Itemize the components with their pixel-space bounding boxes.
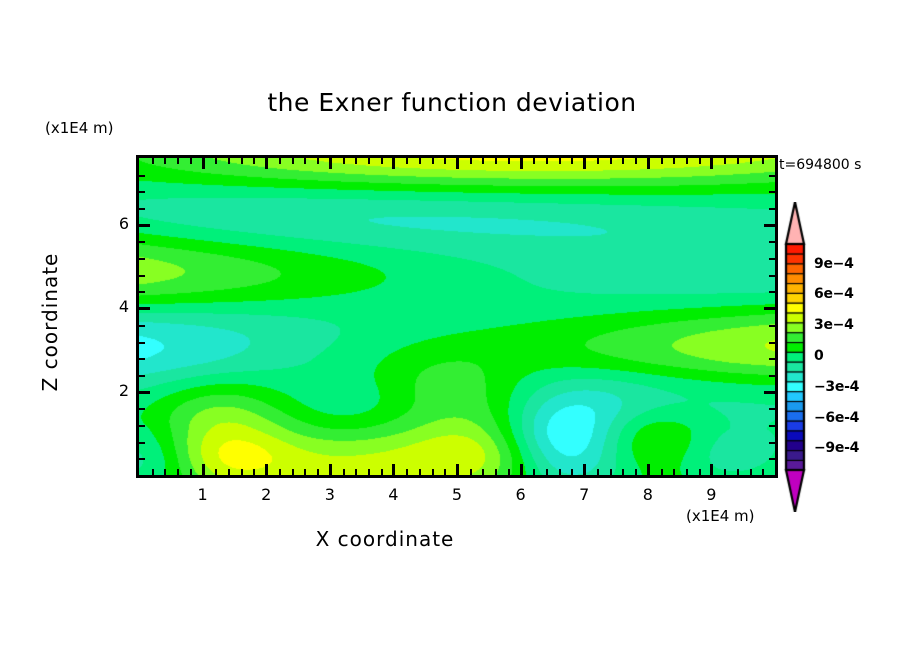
tick-mark <box>419 469 421 475</box>
tick-mark <box>597 158 599 164</box>
tick-mark <box>635 469 637 475</box>
tick-mark <box>292 469 294 475</box>
tick-mark <box>769 258 775 260</box>
tick-mark <box>355 158 357 164</box>
tick-mark <box>762 158 764 164</box>
tick-mark <box>304 158 306 164</box>
tick-mark <box>647 464 650 475</box>
tick-mark <box>368 469 370 475</box>
x-tick-label: 1 <box>183 485 223 504</box>
tick-mark <box>764 224 775 227</box>
tick-mark <box>769 325 775 327</box>
tick-mark <box>750 158 752 164</box>
tick-mark <box>583 464 586 475</box>
tick-mark <box>139 391 150 394</box>
colorbar-label: −9e-4 <box>814 440 859 456</box>
x-tick-label: 4 <box>373 485 413 504</box>
tick-mark <box>292 158 294 164</box>
tick-mark <box>317 469 319 475</box>
x-axis-label: X coordinate <box>0 527 770 551</box>
tick-mark <box>139 175 145 177</box>
tick-mark <box>392 158 395 169</box>
tick-mark <box>520 158 523 169</box>
tick-mark <box>769 208 775 210</box>
tick-mark <box>392 464 395 475</box>
tick-mark <box>686 469 688 475</box>
y-axis-units-label: (x1E4 m) <box>45 119 114 137</box>
tick-mark <box>470 469 472 475</box>
tick-mark <box>444 158 446 164</box>
tick-mark <box>769 342 775 344</box>
tick-mark <box>724 469 726 475</box>
tick-mark <box>520 464 523 475</box>
y-tick-label: 4 <box>103 297 129 316</box>
tick-mark <box>139 258 145 260</box>
tick-mark <box>710 464 713 475</box>
tick-mark <box>406 158 408 164</box>
tick-mark <box>139 425 145 427</box>
y-axis-label: Z coordinate <box>38 212 62 432</box>
tick-mark <box>769 275 775 277</box>
figure-canvas: the Exner function deviation (x1E4 m) t=… <box>0 0 904 654</box>
tick-mark <box>279 158 281 164</box>
tick-mark <box>152 158 154 164</box>
tick-mark <box>769 425 775 427</box>
y-tick-label: 2 <box>103 381 129 400</box>
tick-mark <box>139 241 145 243</box>
tick-mark <box>769 375 775 377</box>
tick-mark <box>647 158 650 169</box>
tick-mark <box>769 241 775 243</box>
tick-mark <box>164 469 166 475</box>
tick-mark <box>139 375 145 377</box>
tick-mark <box>228 158 230 164</box>
x-tick-label: 3 <box>310 485 350 504</box>
tick-mark <box>762 469 764 475</box>
tick-mark <box>508 158 510 164</box>
tick-mark <box>456 464 459 475</box>
x-axis-units-label: (x1E4 m) <box>686 507 755 525</box>
tick-mark <box>673 158 675 164</box>
tick-mark <box>419 158 421 164</box>
tick-mark <box>432 469 434 475</box>
colorbar-gradient <box>783 202 807 512</box>
tick-mark <box>661 158 663 164</box>
tick-mark <box>241 158 243 164</box>
contour-field <box>139 158 775 475</box>
colorbar-label: 6e−4 <box>814 286 854 302</box>
tick-mark <box>139 342 145 344</box>
tick-mark <box>769 291 775 293</box>
tick-mark <box>265 464 268 475</box>
tick-mark <box>769 358 775 360</box>
contour-plot-area[interactable] <box>136 155 778 478</box>
colorbar[interactable] <box>783 202 807 512</box>
tick-mark <box>139 191 145 193</box>
tick-mark <box>215 469 217 475</box>
tick-mark <box>495 469 497 475</box>
tick-mark <box>769 442 775 444</box>
tick-mark <box>769 458 775 460</box>
tick-mark <box>764 307 775 310</box>
tick-mark <box>343 158 345 164</box>
tick-mark <box>482 158 484 164</box>
colorbar-label: 9e−4 <box>814 256 854 272</box>
x-tick-label: 9 <box>691 485 731 504</box>
tick-mark <box>750 469 752 475</box>
tick-mark <box>482 469 484 475</box>
tick-mark <box>329 464 332 475</box>
tick-mark <box>673 469 675 475</box>
tick-mark <box>495 158 497 164</box>
tick-mark <box>470 158 472 164</box>
tick-mark <box>432 158 434 164</box>
tick-mark <box>533 469 535 475</box>
tick-mark <box>769 408 775 410</box>
tick-mark <box>456 158 459 169</box>
y-tick-label: 6 <box>103 214 129 233</box>
tick-mark <box>610 158 612 164</box>
tick-mark <box>635 158 637 164</box>
tick-mark <box>202 464 205 475</box>
x-tick-label: 5 <box>437 485 477 504</box>
tick-mark <box>583 158 586 169</box>
tick-mark <box>710 158 713 169</box>
tick-mark <box>279 469 281 475</box>
colorbar-label: −3e-4 <box>814 379 859 395</box>
tick-mark <box>139 291 145 293</box>
tick-mark <box>533 158 535 164</box>
tick-mark <box>139 275 145 277</box>
colorbar-label: −6e-4 <box>814 410 859 426</box>
tick-mark <box>228 469 230 475</box>
tick-mark <box>622 158 624 164</box>
tick-mark <box>139 208 145 210</box>
tick-mark <box>304 469 306 475</box>
tick-mark <box>164 158 166 164</box>
tick-mark <box>139 358 145 360</box>
tick-mark <box>139 224 150 227</box>
tick-mark <box>381 158 383 164</box>
tick-mark <box>177 158 179 164</box>
tick-mark <box>597 469 599 475</box>
x-tick-label: 8 <box>628 485 668 504</box>
tick-mark <box>343 469 345 475</box>
tick-mark <box>508 469 510 475</box>
tick-mark <box>546 158 548 164</box>
tick-mark <box>139 325 145 327</box>
tick-mark <box>737 469 739 475</box>
tick-mark <box>444 469 446 475</box>
tick-mark <box>139 442 145 444</box>
x-tick-label: 6 <box>501 485 541 504</box>
tick-mark <box>559 469 561 475</box>
tick-mark <box>368 158 370 164</box>
tick-mark <box>724 158 726 164</box>
x-tick-label: 7 <box>564 485 604 504</box>
tick-mark <box>253 469 255 475</box>
tick-mark <box>139 307 150 310</box>
tick-mark <box>381 469 383 475</box>
tick-mark <box>661 469 663 475</box>
tick-mark <box>622 469 624 475</box>
tick-mark <box>764 391 775 394</box>
tick-mark <box>406 469 408 475</box>
tick-mark <box>686 158 688 164</box>
tick-mark <box>355 469 357 475</box>
tick-mark <box>571 158 573 164</box>
tick-mark <box>241 469 243 475</box>
tick-mark <box>190 158 192 164</box>
tick-mark <box>215 158 217 164</box>
tick-mark <box>559 158 561 164</box>
tick-mark <box>253 158 255 164</box>
tick-mark <box>769 191 775 193</box>
tick-mark <box>202 158 205 169</box>
tick-mark <box>571 469 573 475</box>
tick-mark <box>737 158 739 164</box>
colorbar-label: 3e−4 <box>814 317 854 333</box>
tick-mark <box>317 158 319 164</box>
tick-mark <box>139 408 145 410</box>
tick-mark <box>610 469 612 475</box>
tick-mark <box>769 175 775 177</box>
x-tick-label: 2 <box>246 485 286 504</box>
tick-mark <box>190 469 192 475</box>
tick-mark <box>265 158 268 169</box>
tick-mark <box>546 469 548 475</box>
tick-mark <box>699 158 701 164</box>
page-title: the Exner function deviation <box>0 88 904 117</box>
tick-mark <box>329 158 332 169</box>
tick-mark <box>152 469 154 475</box>
tick-mark <box>177 469 179 475</box>
colorbar-label: 0 <box>814 348 823 364</box>
tick-mark <box>139 458 145 460</box>
tick-mark <box>699 469 701 475</box>
timestamp-annotation: t=694800 s <box>779 157 861 173</box>
